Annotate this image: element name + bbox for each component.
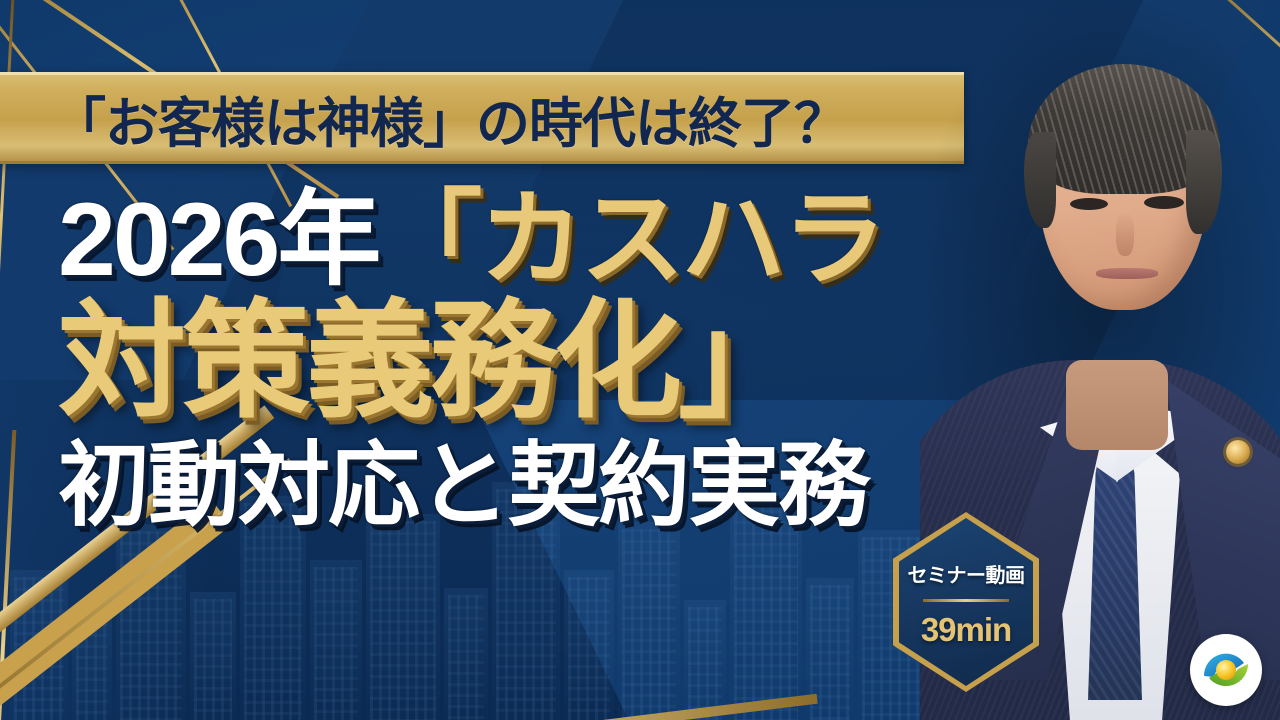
headline-line-1: 2026年「カスハラ (58, 188, 958, 292)
eye-right (1144, 196, 1184, 209)
badge-divider (923, 599, 1009, 602)
brand-logo-icon (1198, 642, 1254, 698)
headline-year: 2026年 (58, 182, 378, 298)
brand-logo[interactable] (1190, 634, 1262, 706)
eye-left (1070, 198, 1108, 210)
thumbnail-canvas: 「お客様は神様」の時代は終了？ 2026年「カスハラ 対策義務化」 初動対応と契… (0, 0, 1280, 720)
headline-keyword: 「カスハラ (378, 182, 883, 298)
neck (1066, 360, 1168, 450)
top-gold-banner: 「お客様は神様」の時代は終了？ (0, 72, 964, 164)
seminar-duration-badge: セミナー動画 39min (893, 512, 1039, 692)
lawyer-badge-pin-icon (1226, 440, 1250, 464)
mouth (1096, 268, 1158, 279)
headline-line-3: 初動対応と契約実務 (58, 440, 958, 532)
badge-duration: 39min (921, 611, 1011, 649)
headline-line-2: 対策義務化」 (58, 298, 958, 426)
badge-label: セミナー動画 (908, 559, 1025, 588)
nose (1116, 212, 1134, 256)
headline-block: 2026年「カスハラ 対策義務化」 初動対応と契約実務 (58, 188, 958, 532)
banner-text: 「お客様は神様」の時代は終了？ (52, 79, 847, 158)
